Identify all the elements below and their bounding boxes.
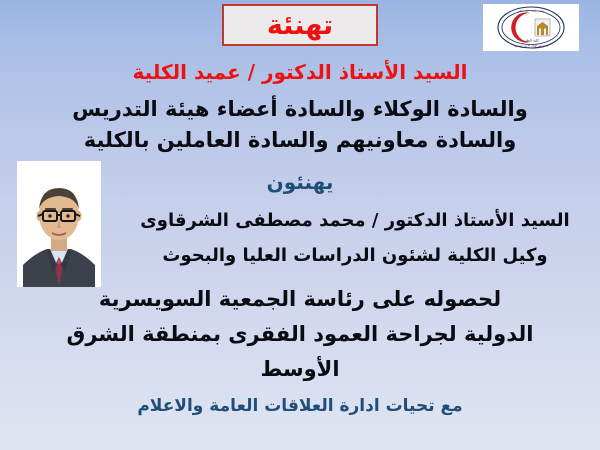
honoree-name: السيد الأستاذ الدكتور / محمد مصطفى الشرق… xyxy=(110,212,600,231)
staff-line-1: والسادة الوكلاء والسادة أعضاء هيئة التدر… xyxy=(0,98,600,120)
red-crescent-faculty-logo: جامعة حلوان - كلية الطب مستشفى الهلال ال… xyxy=(483,4,579,51)
achievement-line-3: الأوسط xyxy=(0,358,600,380)
congratulation-poster: تهنئة جامعة حلوان - كلية الطب مستشفى اله… xyxy=(0,0,600,450)
congratulate-word: يهنئون xyxy=(0,172,600,193)
staff-line-2: والسادة معاونيهم والسادة العاملين بالكلي… xyxy=(0,129,600,151)
logo-icon: جامعة حلوان - كلية الطب مستشفى الهلال ال… xyxy=(483,4,579,51)
poster-title-box: تهنئة xyxy=(222,4,378,46)
greeting-line: السيد الأستاذ الدكتور / عميد الكلية xyxy=(0,62,600,83)
poster-title: تهنئة xyxy=(267,12,333,39)
regards-line: مع تحيات ادارة العلاقات العامة والاعلام xyxy=(0,398,600,416)
honoree-role: وكيل الكلية لشئون الدراسات العليا والبحو… xyxy=(110,247,600,266)
svg-text:جامعة حلوان - كلية الطب: جامعة حلوان - كلية الطب xyxy=(517,10,545,13)
svg-text:مستشفى الهلال الأحمر المصرى: مستشفى الهلال الأحمر المصرى xyxy=(514,44,549,48)
svg-text:كلية الطب: كلية الطب xyxy=(523,39,539,43)
achievement-line-2: الدولية لجراحة العمود الفقرى بمنطقة الشر… xyxy=(0,323,600,345)
achievement-line-1: لحصوله على رئاسة الجمعية السويسرية xyxy=(0,288,600,310)
